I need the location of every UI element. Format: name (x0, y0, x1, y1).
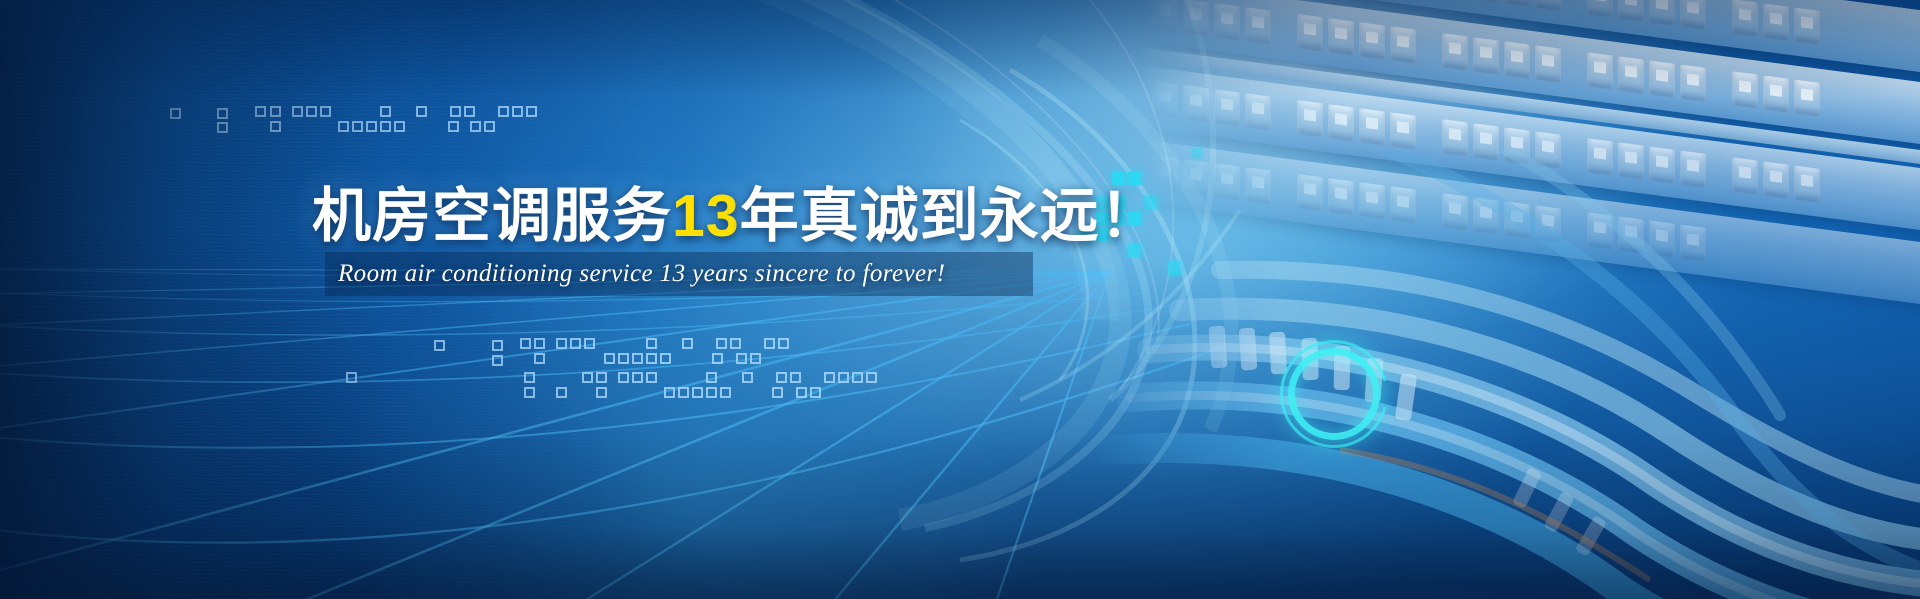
banner-headline: 机房空调服务13年真诚到永远！ (312, 168, 1160, 253)
headline-part-2: 年真诚到永远！ (740, 183, 1160, 249)
headline-part-1: 机房空调服务 (312, 183, 672, 249)
banner-copy: 机房空调服务13年真诚到永远！ Room air conditioning se… (0, 0, 1920, 599)
hero-banner: 机房空调服务13年真诚到永远！ Room air conditioning se… (0, 0, 1920, 599)
banner-subtitle: Room air conditioning service 13 years s… (338, 254, 1028, 294)
headline-accent-number: 13 (672, 183, 740, 249)
